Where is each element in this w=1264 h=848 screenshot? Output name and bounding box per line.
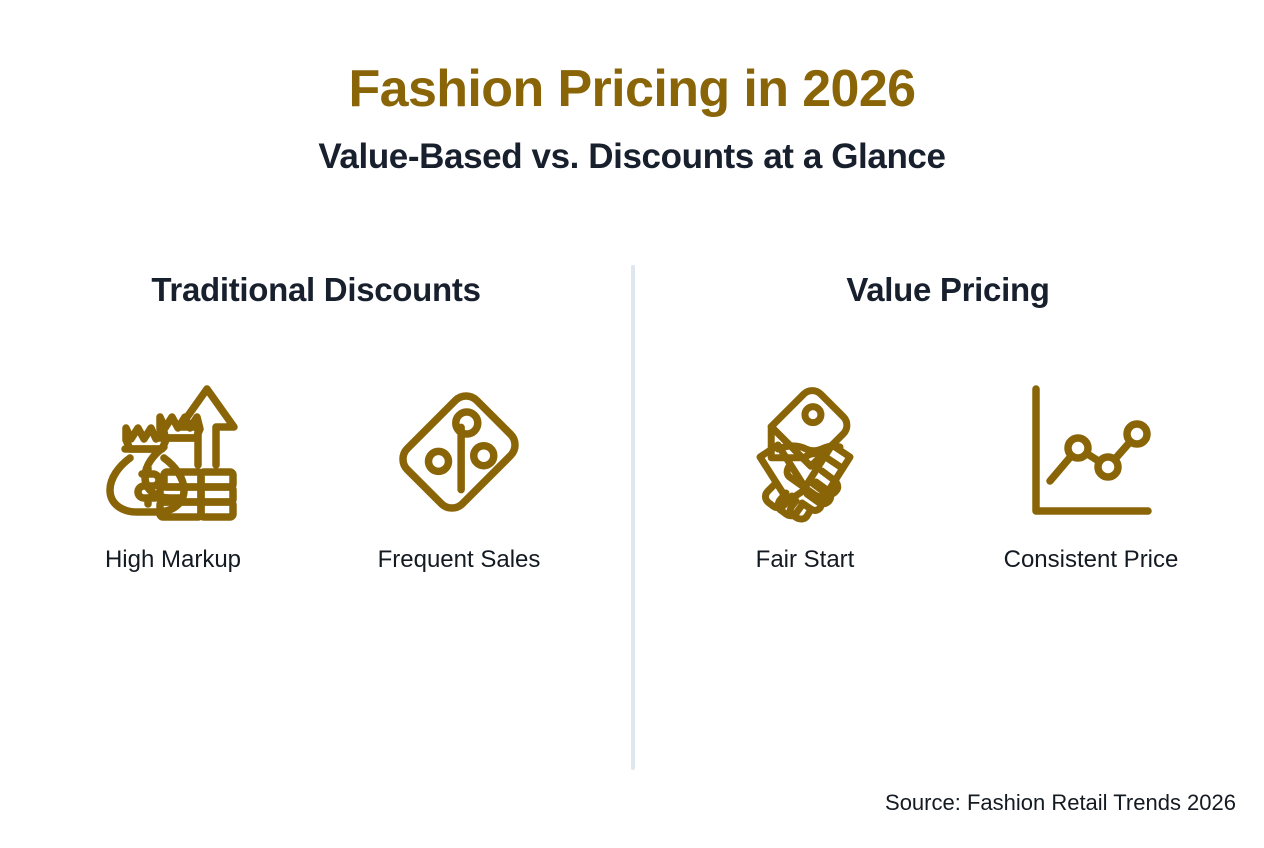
- column-title-traditional-discounts: Traditional Discounts: [151, 272, 480, 308]
- item-label-high-markup: High Markup: [105, 546, 241, 575]
- header: Fashion Pricing in 2026 Value-Based vs. …: [0, 62, 1264, 175]
- money-bag-coins-up-arrow-icon: [98, 376, 248, 528]
- item-label-consistent-price: Consistent Price: [1004, 546, 1179, 575]
- item-consistent-price: Consistent Price: [991, 376, 1191, 575]
- item-fair-start: Fair Start: [705, 376, 905, 575]
- line-chart-icon: [1016, 376, 1166, 528]
- page-subtitle: Value-Based vs. Discounts at a Glance: [0, 139, 1264, 176]
- handshake-price-tag-icon: [730, 376, 880, 528]
- column-value-pricing: Value Pricing: [632, 272, 1264, 575]
- column-items-value-pricing: Fair Start: [705, 376, 1191, 575]
- source-caption: Source: Fashion Retail Trends 2026: [885, 790, 1236, 816]
- column-title-value-pricing: Value Pricing: [846, 272, 1049, 308]
- comparison-columns: Traditional Discounts: [0, 272, 1264, 575]
- page-title: Fashion Pricing in 2026: [0, 62, 1264, 117]
- item-frequent-sales: Frequent Sales: [359, 376, 559, 575]
- item-label-frequent-sales: Frequent Sales: [378, 546, 541, 575]
- item-label-fair-start: Fair Start: [756, 546, 855, 575]
- item-high-markup: High Markup: [73, 376, 273, 575]
- column-traditional-discounts: Traditional Discounts: [0, 272, 632, 575]
- percent-price-tag-icon: [384, 376, 534, 528]
- infographic-canvas: Fashion Pricing in 2026 Value-Based vs. …: [0, 0, 1264, 848]
- column-items-traditional-discounts: High Markup: [73, 376, 559, 575]
